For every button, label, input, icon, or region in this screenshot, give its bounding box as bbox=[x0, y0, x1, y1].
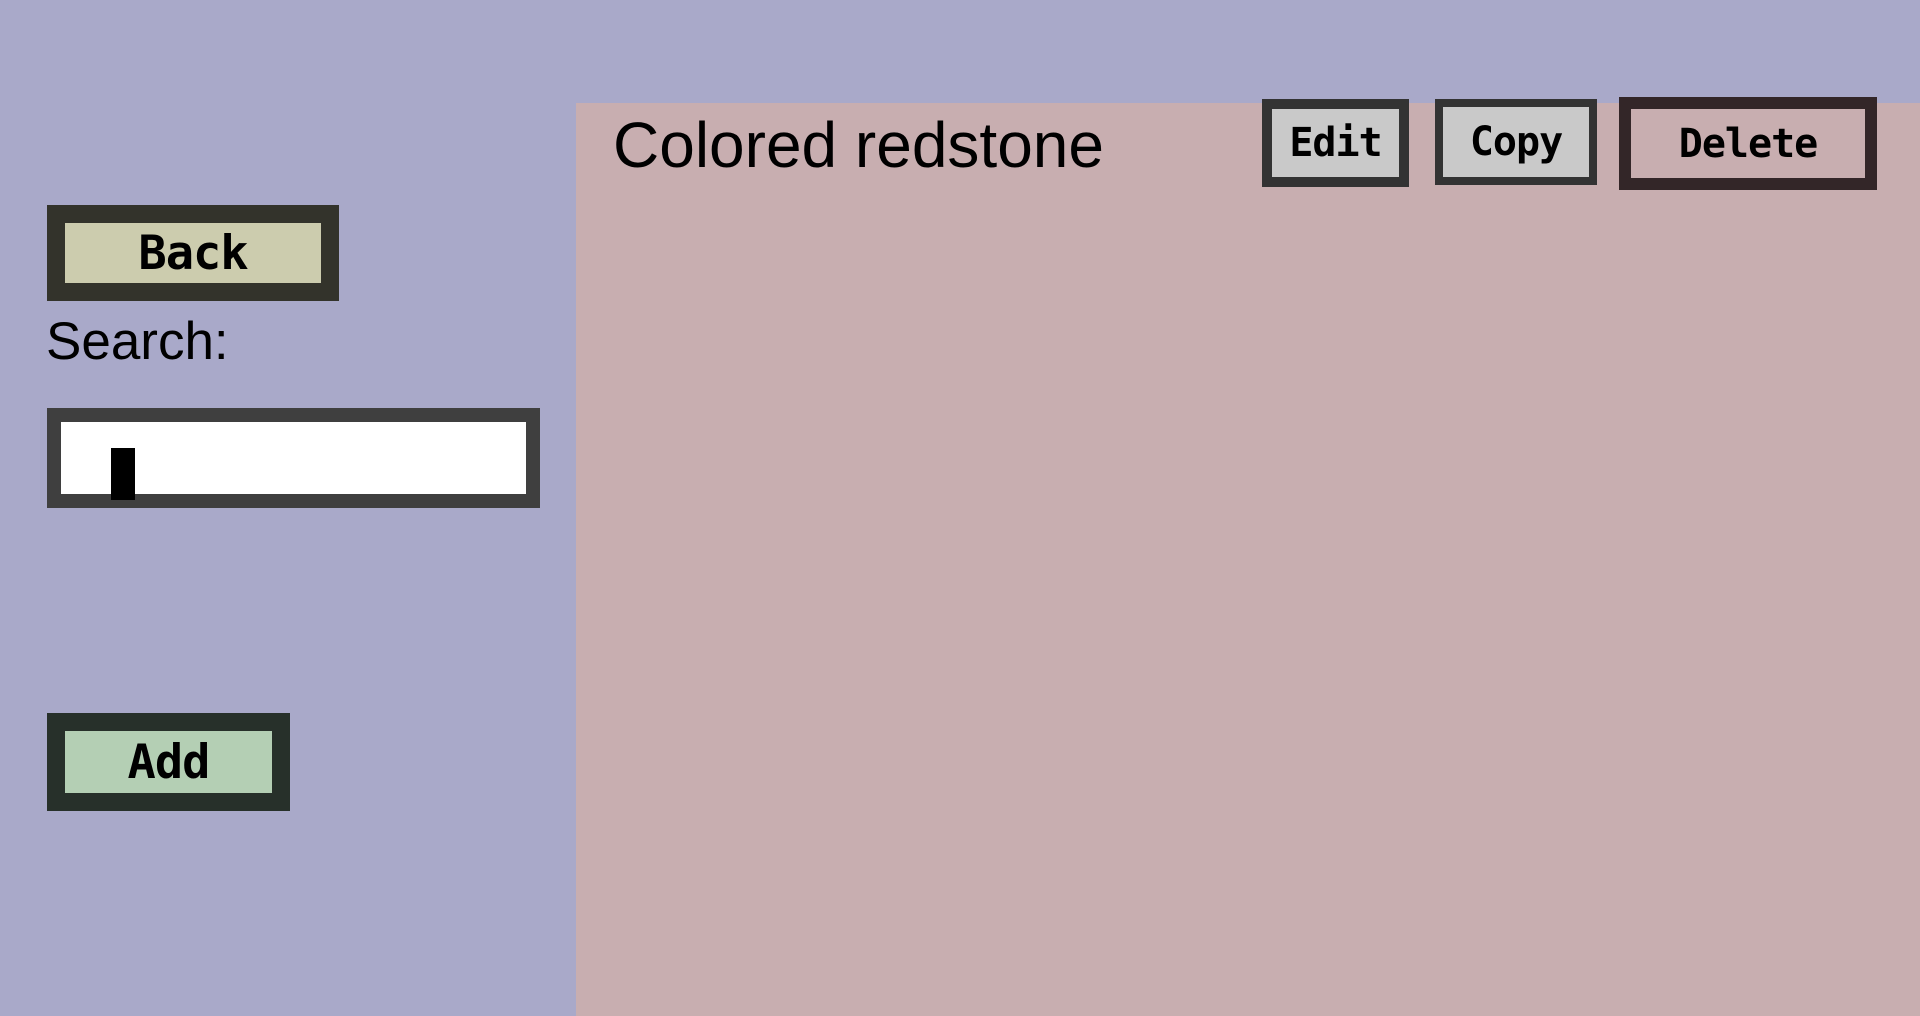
add-button[interactable]: Add bbox=[47, 713, 290, 811]
sidebar: Back Search: Add bbox=[0, 0, 576, 1016]
delete-button[interactable]: Delete bbox=[1619, 97, 1877, 190]
edit-button-label: Edit bbox=[1289, 123, 1381, 163]
copy-button-label: Copy bbox=[1470, 122, 1562, 162]
detail-panel: Colored redstone Edit Copy Delete bbox=[576, 103, 1920, 1016]
delete-button-label: Delete bbox=[1679, 124, 1818, 164]
page-title: Colored redstone bbox=[613, 113, 1104, 177]
detail-header: Colored redstone Edit Copy Delete bbox=[576, 103, 1920, 213]
search-label: Search: bbox=[46, 315, 229, 368]
add-button-label: Add bbox=[128, 739, 210, 786]
copy-button[interactable]: Copy bbox=[1435, 99, 1597, 185]
text-caret bbox=[111, 448, 135, 500]
edit-button[interactable]: Edit bbox=[1262, 99, 1409, 187]
app-root: ? Back Search: Add Colored redstone Edit… bbox=[0, 0, 1920, 1016]
back-button-label: Back bbox=[138, 230, 247, 277]
search-input[interactable] bbox=[47, 408, 540, 508]
back-button[interactable]: Back bbox=[47, 205, 339, 301]
